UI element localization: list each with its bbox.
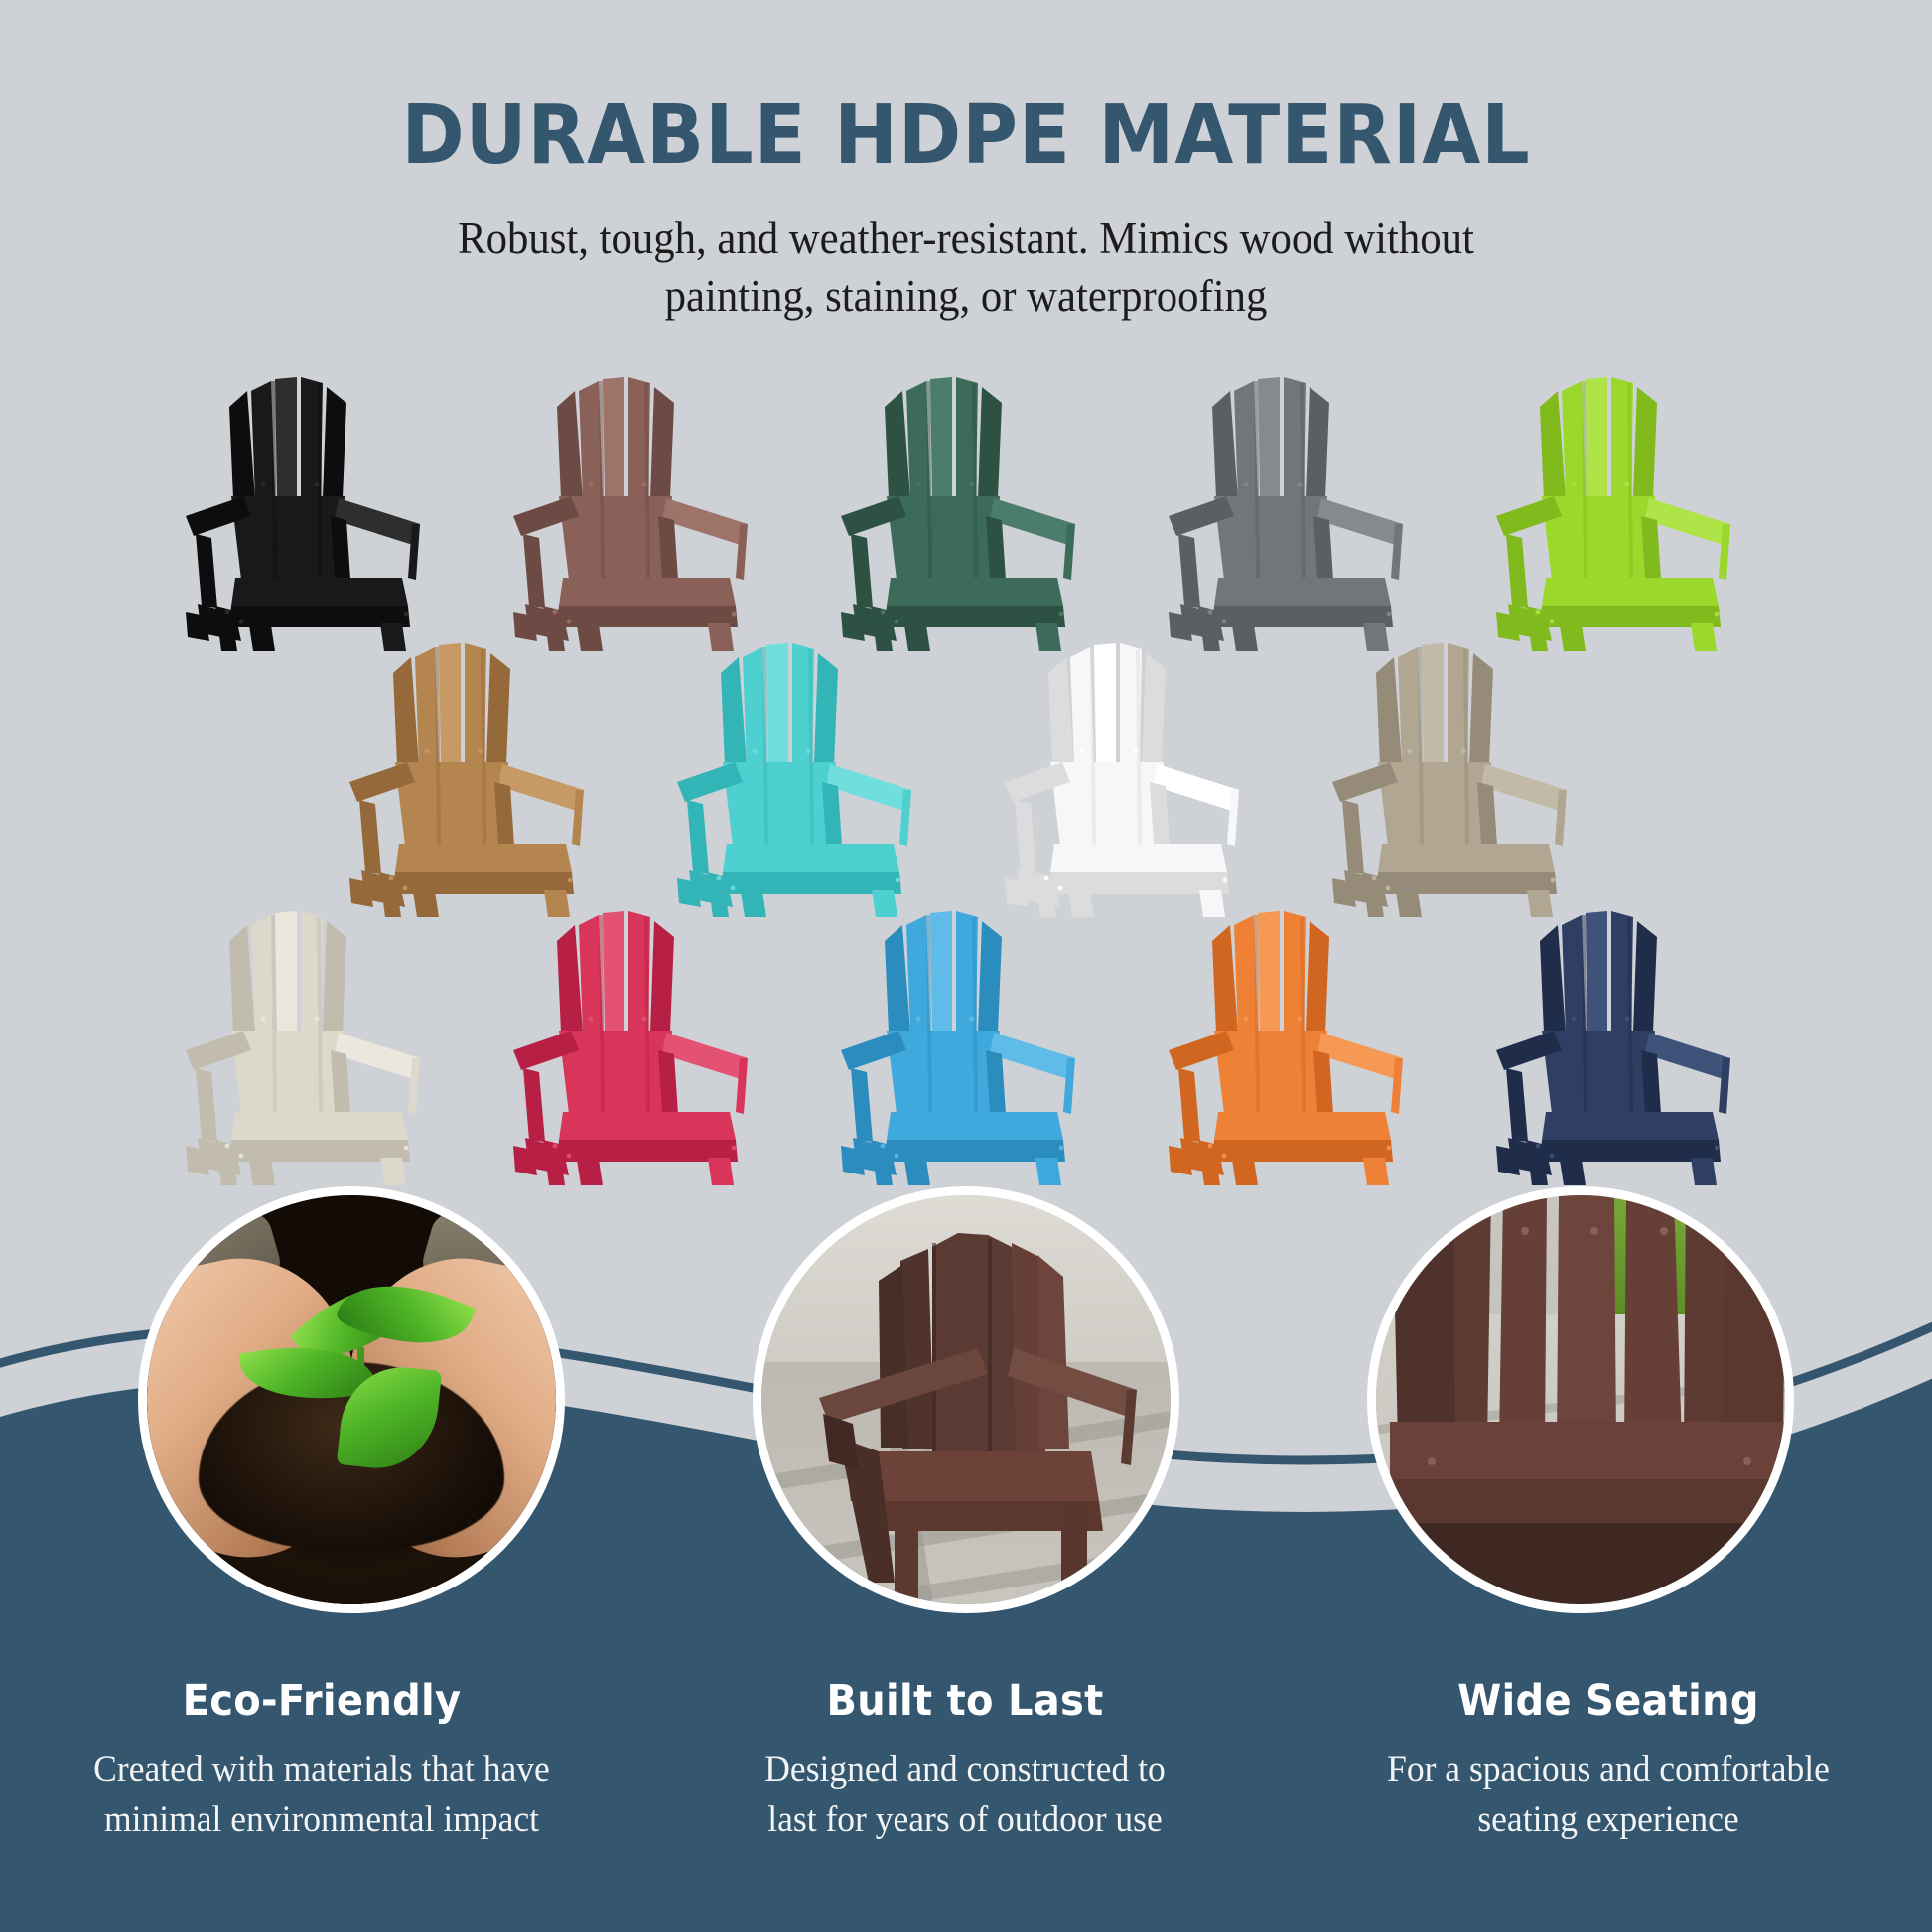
- feature-photo-row: [0, 1186, 1932, 1663]
- chair-swatch-khaki[interactable]: [1294, 631, 1621, 919]
- chair-swatch-dark-green[interactable]: [802, 365, 1130, 653]
- feature-description: For a spacious and comfortable seating e…: [1332, 1745, 1885, 1844]
- chair-swatch-orange[interactable]: [1130, 899, 1457, 1187]
- chair-row-3: [0, 899, 1932, 1187]
- feature-wide-seating: Wide Seating For a spacious and comforta…: [1287, 1676, 1930, 1844]
- chair-swatch-red[interactable]: [475, 899, 802, 1187]
- feature-title: Wide Seating: [1340, 1676, 1875, 1725]
- feature-title: Built to Last: [697, 1676, 1232, 1725]
- chair-swatch-lime-green[interactable]: [1457, 365, 1785, 653]
- feature-desc-line-1: Designed and constructed to: [689, 1745, 1242, 1795]
- chair-swatch-ivory[interactable]: [147, 899, 475, 1187]
- chair-swatch-gray[interactable]: [1130, 365, 1457, 653]
- chair-seat-closeup-photo: [1376, 1195, 1785, 1604]
- feature-photo-wide-seating: [1367, 1186, 1794, 1613]
- chair-swatch-white[interactable]: [966, 631, 1294, 919]
- feature-photo-eco-friendly: [138, 1186, 565, 1613]
- chair-swatch-navy-blue[interactable]: [1457, 899, 1785, 1187]
- subtitle-line-2: painting, staining, or waterproofing: [49, 268, 1884, 326]
- chair-row-1: [0, 365, 1932, 653]
- chair-color-grid: [0, 365, 1932, 1259]
- feature-desc-line-2: seating experience: [1332, 1795, 1885, 1845]
- feature-desc-line-1: Created with materials that have: [46, 1745, 599, 1795]
- page-subtitle: Robust, tough, and weather-resistant. Mi…: [49, 210, 1884, 325]
- closeup-chair-brown: [1376, 1195, 1785, 1604]
- feature-eco-friendly: Eco-Friendly Created with materials that…: [0, 1676, 643, 1844]
- feature-photo-built-to-last: [753, 1186, 1179, 1613]
- chair-swatch-light-blue[interactable]: [802, 899, 1130, 1187]
- chair-swatch-brown[interactable]: [475, 365, 802, 653]
- feature-title: Eco-Friendly: [54, 1676, 589, 1725]
- feature-desc-line-1: For a spacious and comfortable: [1332, 1745, 1885, 1795]
- brown-chair-on-patio-photo: [761, 1195, 1171, 1604]
- photo-chair-brown: [783, 1203, 1171, 1604]
- feature-description: Created with materials that have minimal…: [46, 1745, 599, 1844]
- feature-text-row: Eco-Friendly Created with materials that…: [0, 1676, 1932, 1844]
- subtitle-line-1: Robust, tough, and weather-resistant. Mi…: [49, 210, 1884, 268]
- feature-desc-line-2: last for years of outdoor use: [689, 1795, 1242, 1845]
- infographic-canvas: DURABLE HDPE MATERIAL Robust, tough, and…: [0, 0, 1932, 1932]
- seedling-in-hands-photo: [147, 1195, 556, 1604]
- feature-description: Designed and constructed to last for yea…: [689, 1745, 1242, 1844]
- page-title: DURABLE HDPE MATERIAL: [68, 95, 1864, 177]
- chair-swatch-black[interactable]: [147, 365, 475, 653]
- header-block: DURABLE HDPE MATERIAL Robust, tough, and…: [0, 0, 1932, 325]
- chair-swatch-teak[interactable]: [311, 631, 638, 919]
- chair-row-2: [0, 631, 1932, 919]
- chair-swatch-turquoise[interactable]: [638, 631, 966, 919]
- feature-desc-line-2: minimal environmental impact: [46, 1795, 599, 1845]
- feature-built-to-last: Built to Last Designed and constructed t…: [643, 1676, 1287, 1844]
